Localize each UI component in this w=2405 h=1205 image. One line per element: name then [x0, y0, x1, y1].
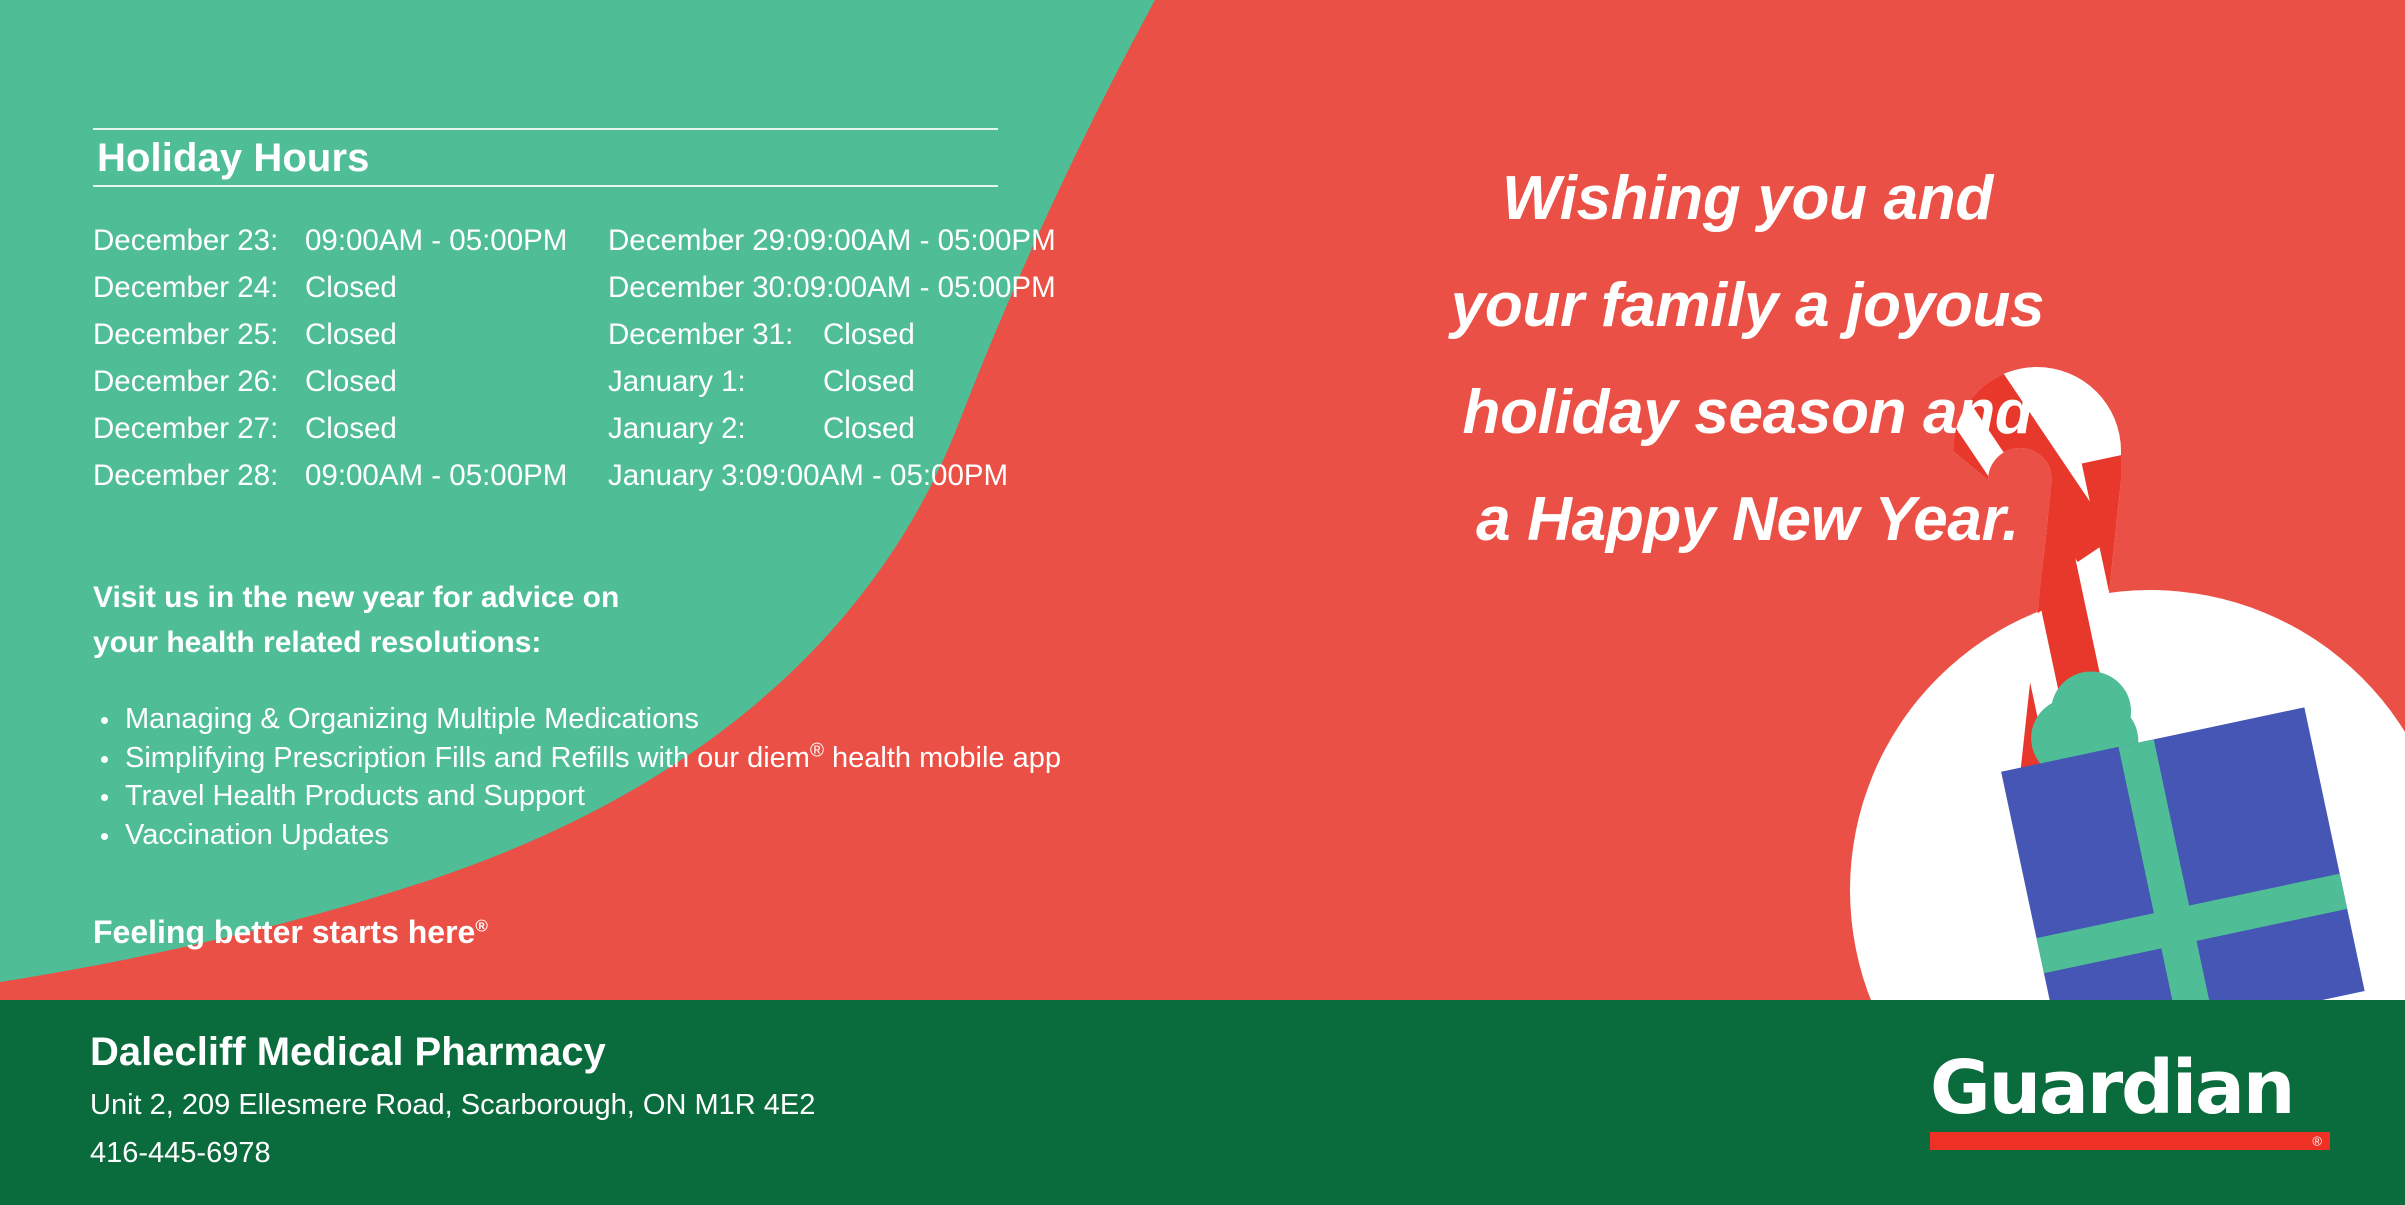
hours-row: December 27: Closed — [93, 405, 608, 452]
services-bullet-list: Managing & Organizing Multiple Medicatio… — [93, 700, 1193, 854]
greeting-line-2: your family a joyous — [1320, 252, 2175, 359]
hours-row: December 24: Closed — [93, 264, 608, 311]
hours-time: 09:00AM - 05:00PM — [793, 264, 1055, 311]
pharmacy-info: Dalecliff Medical Pharmacy Unit 2, 209 E… — [90, 1024, 815, 1176]
pharmacy-name: Dalecliff Medical Pharmacy — [90, 1024, 815, 1080]
greeting-message: Wishing you and your family a joyous hol… — [1320, 145, 2175, 573]
greeting-line-4: a Happy New Year. — [1320, 466, 2175, 573]
hours-date: December 30: — [608, 264, 793, 311]
hours-column-1: December 23: 09:00AM - 05:00PM December … — [93, 217, 608, 499]
hours-column-2: December 29: 09:00AM - 05:00PM December … — [608, 217, 998, 499]
guardian-logo: Guardian ® — [1930, 1048, 2330, 1150]
pharmacy-address: Unit 2, 209 Ellesmere Road, Scarborough,… — [90, 1080, 815, 1130]
visit-heading-line-2: your health related resolutions: — [93, 620, 853, 665]
footer-bar: Dalecliff Medical Pharmacy Unit 2, 209 E… — [0, 1000, 2405, 1205]
holiday-hours-block: Holiday Hours December 23: 09:00AM - 05:… — [93, 128, 998, 499]
hours-row: January 1: Closed — [608, 358, 998, 405]
hours-row: December 31: Closed — [608, 311, 998, 358]
hours-date: December 28: — [93, 452, 305, 499]
greeting-line-3: holiday season and — [1320, 359, 2175, 466]
hours-row: December 26: Closed — [93, 358, 608, 405]
greeting-line-1: Wishing you and — [1320, 145, 2175, 252]
guardian-wordmark: Guardian — [1930, 1048, 2330, 1128]
hours-date: January 1: — [608, 358, 823, 405]
hours-row: December 25: Closed — [93, 311, 608, 358]
hours-date: December 23: — [93, 217, 305, 264]
hours-time: Closed — [305, 358, 397, 405]
hours-date: December 24: — [93, 264, 305, 311]
hours-row: January 3: 09:00AM - 05:00PM — [608, 452, 998, 499]
hours-date: January 2: — [608, 405, 823, 452]
hours-top-rule — [93, 128, 998, 130]
registered-mark: ® — [475, 916, 488, 935]
hours-title: Holiday Hours — [93, 130, 998, 185]
hours-date: December 27: — [93, 405, 305, 452]
list-item-text-pre: Simplifying Prescription Fills and Refil… — [125, 742, 810, 774]
brand-tagline: Feeling better starts here® — [93, 914, 488, 951]
list-item: Managing & Organizing Multiple Medicatio… — [93, 700, 1193, 739]
visit-heading: Visit us in the new year for advice on y… — [93, 575, 853, 665]
hours-date: January 3: — [608, 452, 746, 499]
hours-date: December 25: — [93, 311, 305, 358]
hours-date: December 29: — [608, 217, 793, 264]
list-item-text-post: health mobile app — [824, 742, 1061, 774]
hours-row: January 2: Closed — [608, 405, 998, 452]
pharmacy-phone[interactable]: 416-445-6978 — [90, 1130, 815, 1176]
hours-grid: December 23: 09:00AM - 05:00PM December … — [93, 217, 998, 499]
registered-mark: ® — [2312, 1135, 2322, 1148]
hours-time: Closed — [305, 311, 397, 358]
hours-row: December 28: 09:00AM - 05:00PM — [93, 452, 608, 499]
hours-time: Closed — [823, 311, 915, 358]
guardian-logo-bar: ® — [1930, 1132, 2330, 1150]
hours-date: December 31: — [608, 311, 823, 358]
hours-row: December 23: 09:00AM - 05:00PM — [93, 217, 608, 264]
holiday-greeting-card: Holiday Hours December 23: 09:00AM - 05:… — [0, 0, 2405, 1205]
list-item: Vaccination Updates — [93, 816, 1193, 855]
hours-time: 09:00AM - 05:00PM — [305, 452, 567, 499]
tagline-text: Feeling better starts here — [93, 914, 475, 950]
hours-time: Closed — [305, 405, 397, 452]
hours-time: 09:00AM - 05:00PM — [793, 217, 1055, 264]
hours-time: 09:00AM - 05:00PM — [746, 452, 1008, 499]
hours-time: Closed — [823, 405, 915, 452]
hours-time: Closed — [823, 358, 915, 405]
hours-row: December 29: 09:00AM - 05:00PM — [608, 217, 998, 264]
registered-mark: ® — [810, 740, 824, 761]
hours-row: December 30: 09:00AM - 05:00PM — [608, 264, 998, 311]
hours-bottom-rule — [93, 185, 998, 187]
hours-time: 09:00AM - 05:00PM — [305, 217, 567, 264]
hours-date: December 26: — [93, 358, 305, 405]
list-item: Simplifying Prescription Fills and Refil… — [93, 739, 1193, 778]
hours-time: Closed — [305, 264, 397, 311]
list-item: Travel Health Products and Support — [93, 777, 1193, 816]
visit-heading-line-1: Visit us in the new year for advice on — [93, 575, 853, 620]
